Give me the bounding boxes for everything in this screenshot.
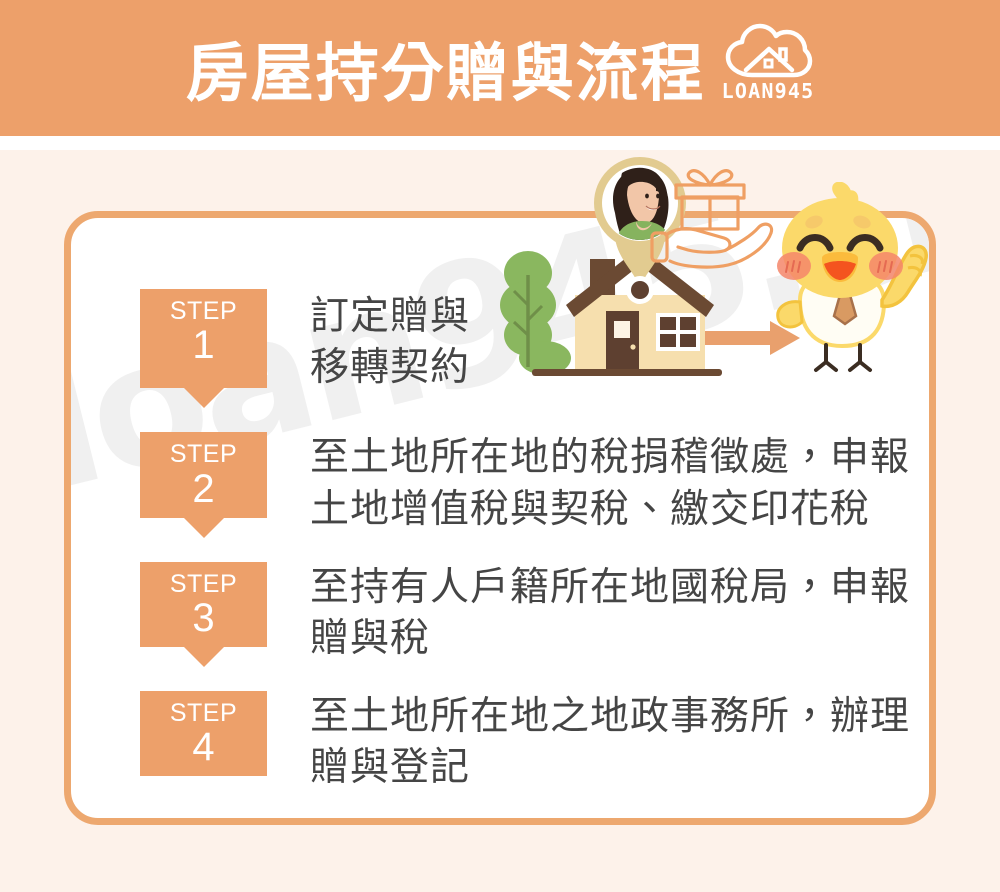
step-row: STEP 3 至持有人戶籍所在地國稅局，申報 贈與稅 <box>140 562 900 667</box>
infographic-root: 房屋持分贈與流程 LOAN945 loan945.club STEP <box>0 0 1000 892</box>
step-text-line: 至持有人戶籍所在地國稅局，申報 <box>310 562 910 613</box>
step-text-line: 訂定贈與 <box>310 291 900 342</box>
step-text-line: 贈與登記 <box>310 742 910 793</box>
brand-name: LOAN945 <box>722 81 815 101</box>
step-label: STEP <box>140 700 267 726</box>
step-down-arrow-icon <box>184 518 224 538</box>
step-row: STEP 1 訂定贈與 移轉契約 <box>140 289 900 408</box>
step-badge-wrap-4: STEP 4 <box>140 691 267 776</box>
step-row: STEP 2 至土地所在地的稅捐稽徵處，申報 土地增值稅與契稅、繳交印花稅 <box>140 432 900 537</box>
step-badge-2: STEP 2 <box>140 432 267 517</box>
step-text-1: 訂定贈與 移轉契約 <box>310 291 900 394</box>
step-badge-4: STEP 4 <box>140 691 267 776</box>
step-badge-3: STEP 3 <box>140 562 267 647</box>
step-number: 3 <box>140 597 267 639</box>
step-row: STEP 4 至土地所在地之地政事務所，辦理 贈與登記 <box>140 691 900 794</box>
header-band: 房屋持分贈與流程 LOAN945 <box>0 0 1000 136</box>
step-text-line: 土地增值稅與契稅、繳交印花稅 <box>310 484 910 535</box>
flow-card: loan945.club STEP 1 訂定贈與 移轉契約 <box>64 211 936 825</box>
step-down-arrow-icon <box>184 647 224 667</box>
header-inner: 房屋持分贈與流程 LOAN945 <box>186 27 815 105</box>
step-text-line: 至土地所在地之地政事務所，辦理 <box>310 691 910 742</box>
step-number: 2 <box>140 468 267 510</box>
step-list: STEP 1 訂定贈與 移轉契約 STEP 2 <box>140 289 900 794</box>
step-badge-wrap-1: STEP 1 <box>140 289 267 408</box>
step-text-line: 至土地所在地的稅捐稽徵處，申報 <box>310 432 910 483</box>
step-number: 4 <box>140 726 267 768</box>
step-text-line: 移轉契約 <box>310 342 900 393</box>
step-badge-wrap-2: STEP 2 <box>140 432 267 537</box>
step-text-line: 贈與稅 <box>310 613 910 664</box>
step-down-arrow-icon <box>184 388 224 408</box>
step-label: STEP <box>140 298 267 324</box>
brand-logo: LOAN945 <box>722 23 815 101</box>
step-label: STEP <box>140 571 267 597</box>
step-text-2: 至土地所在地的稅捐稽徵處，申報 土地增值稅與契稅、繳交印花稅 <box>310 432 910 535</box>
step-text-3: 至持有人戶籍所在地國稅局，申報 贈與稅 <box>310 562 910 665</box>
step-number: 1 <box>140 324 267 366</box>
step-badge-wrap-3: STEP 3 <box>140 562 267 667</box>
step-text-4: 至土地所在地之地政事務所，辦理 贈與登記 <box>310 691 910 794</box>
header-gap-strip <box>0 136 1000 150</box>
step-label: STEP <box>140 441 267 467</box>
page-title: 房屋持分贈與流程 <box>186 42 706 105</box>
cloud-house-logo-icon <box>722 23 814 79</box>
step-badge-1: STEP 1 <box>140 289 267 388</box>
